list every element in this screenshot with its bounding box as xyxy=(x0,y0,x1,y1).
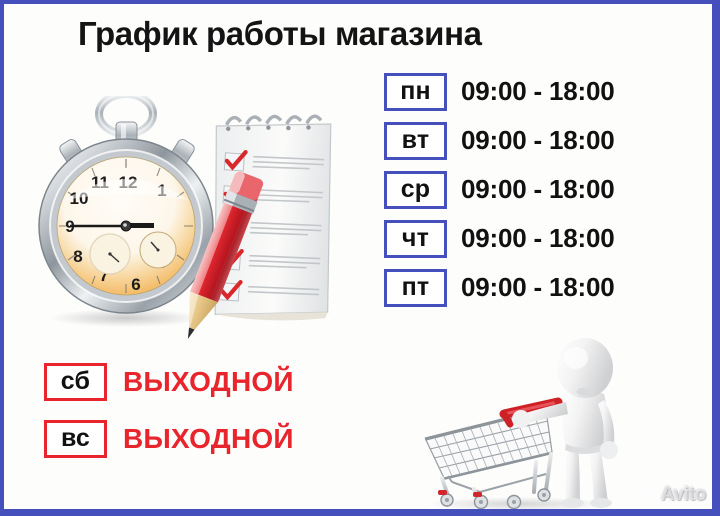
status-sunday: ВЫХОДНОЙ xyxy=(123,423,294,455)
hours-friday: 09:00 - 18:00 xyxy=(461,272,615,303)
status-saturday: ВЫХОДНОЙ xyxy=(123,366,294,398)
weekend-schedule-list: сб ВЫХОДНОЙ вс ВЫХОДНОЙ xyxy=(44,362,294,476)
hours-tuesday: 09:00 - 18:00 xyxy=(461,125,615,156)
page-title: График работы магазина xyxy=(78,15,482,53)
shopper-with-cart-icon xyxy=(418,332,624,512)
frame-left-edge xyxy=(0,0,4,516)
frame-top-edge xyxy=(0,0,720,4)
schedule-row-monday: пн 09:00 - 18:00 xyxy=(384,72,615,111)
day-badge-thursday: чт xyxy=(384,220,447,258)
svg-text:6: 6 xyxy=(131,275,140,294)
schedule-row-wednesday: ср 09:00 - 18:00 xyxy=(384,170,615,209)
hours-monday: 09:00 - 18:00 xyxy=(461,76,615,107)
schedule-row-thursday: чт 09:00 - 18:00 xyxy=(384,219,615,258)
schedule-row-friday: пт 09:00 - 18:00 xyxy=(384,268,615,307)
avito-logo-icon xyxy=(638,482,658,507)
day-badge-tuesday: вт xyxy=(384,122,447,160)
day-badge-saturday: сб xyxy=(44,363,107,401)
pencil-icon xyxy=(160,170,280,345)
schedule-row-sunday: вс ВЫХОДНОЙ xyxy=(44,419,294,458)
hours-wednesday: 09:00 - 18:00 xyxy=(461,174,615,205)
avito-watermark: Avito xyxy=(638,482,706,507)
schedule-row-tuesday: вт 09:00 - 18:00 xyxy=(384,121,615,160)
day-badge-monday: пн xyxy=(384,73,447,111)
hours-thursday: 09:00 - 18:00 xyxy=(461,223,615,254)
day-badge-wednesday: ср xyxy=(384,171,447,209)
schedule-row-saturday: сб ВЫХОДНОЙ xyxy=(44,362,294,401)
frame-bottom-edge xyxy=(0,509,720,516)
day-badge-sunday: вс xyxy=(44,420,107,458)
svg-text:8: 8 xyxy=(73,247,82,266)
frame-right-edge xyxy=(712,0,720,516)
weekday-schedule-list: пн 09:00 - 18:00 вт 09:00 - 18:00 ср 09:… xyxy=(384,72,615,317)
avito-watermark-text: Avito xyxy=(661,484,706,506)
store-schedule-poster: 12 1 5 6 7 8 9 10 11 xyxy=(0,0,720,516)
day-badge-friday: пт xyxy=(384,269,447,307)
